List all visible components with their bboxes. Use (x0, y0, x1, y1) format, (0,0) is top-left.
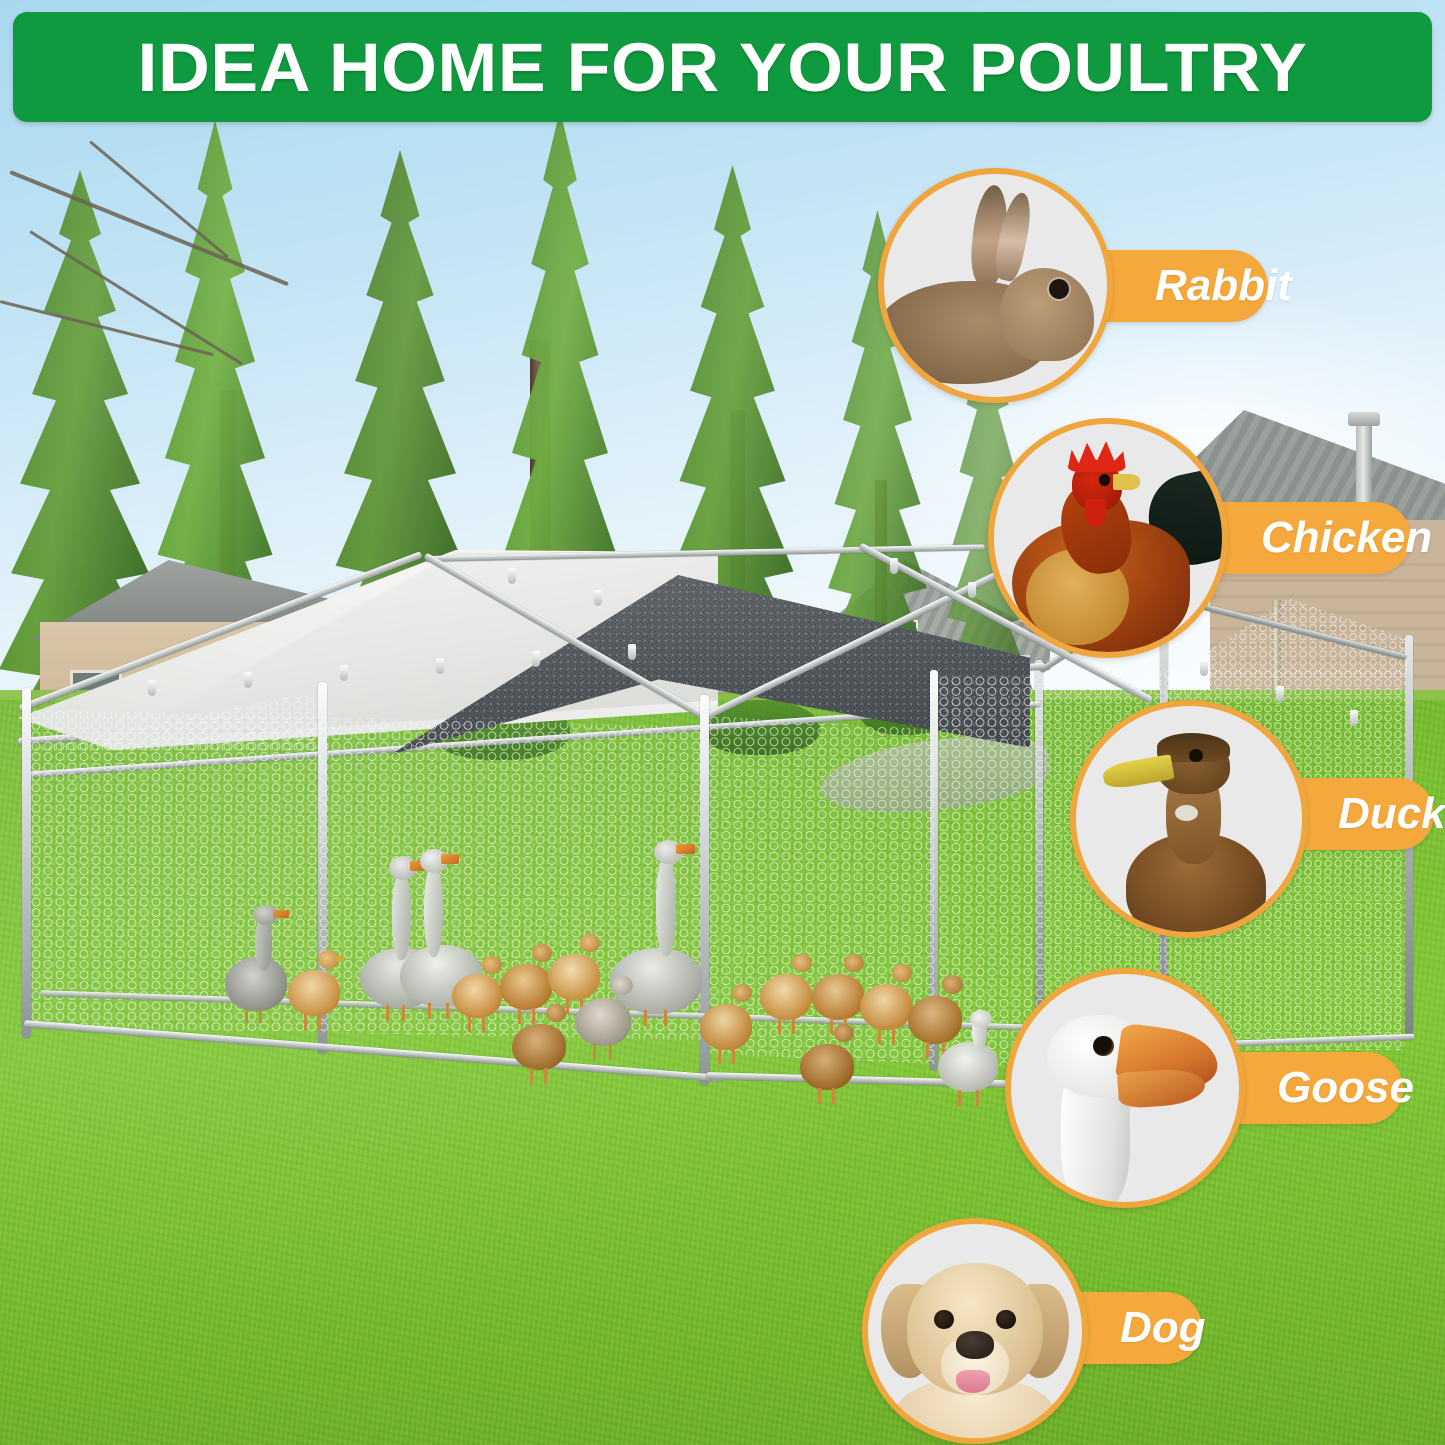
headline-banner: IDEA HOME FOR YOUR POULTRY (13, 12, 1432, 122)
coop-post (22, 688, 31, 1038)
chicken-in-run (512, 1000, 570, 1088)
badge-label: Goose (1277, 1063, 1414, 1113)
roof-tie (890, 558, 898, 574)
roof-tie (244, 672, 252, 688)
duck-illustration (1076, 706, 1302, 932)
goose-in-run (575, 968, 635, 1060)
roof-tie (436, 658, 444, 674)
roof-tie (968, 582, 976, 598)
badge-label: Dog (1120, 1303, 1206, 1353)
poultry-coop-product-image: IDEA HOME FOR YOUR POULTRY Rabbit Chicke… (0, 0, 1445, 1445)
roof-tie (628, 644, 636, 660)
rabbit-photo-icon (878, 168, 1113, 403)
badge-goose[interactable]: Goose (1005, 968, 1405, 1208)
roof-tie (340, 665, 348, 681)
badge-label: Chicken (1261, 513, 1432, 563)
goose-photo-icon (1005, 968, 1245, 1208)
chicken-in-run (288, 940, 344, 1032)
roof-tie (1200, 660, 1208, 676)
roof-tie (508, 568, 516, 584)
rooster-illustration (994, 424, 1222, 652)
goose-in-run (938, 1010, 1002, 1106)
roof-tie (594, 590, 602, 606)
badge-chicken[interactable]: Chicken (988, 418, 1418, 658)
goose-in-run (225, 905, 295, 1020)
badge-label: Duck (1338, 789, 1445, 839)
dog-illustration (868, 1224, 1082, 1438)
rooster-photo-icon (988, 418, 1228, 658)
rabbit-illustration (884, 174, 1107, 397)
roof-tie (532, 651, 540, 667)
roof-tie (148, 680, 156, 696)
badge-dog[interactable]: Dog (862, 1218, 1232, 1445)
badge-duck[interactable]: Duck (1070, 700, 1445, 940)
page-title: IDEA HOME FOR YOUR POULTRY (138, 28, 1308, 107)
chicken-in-run (700, 980, 756, 1066)
chicken-in-run (452, 950, 506, 1034)
badge-rabbit[interactable]: Rabbit (878, 168, 1278, 403)
duck-photo-icon (1070, 700, 1308, 938)
badge-label: Rabbit (1155, 261, 1292, 311)
dog-photo-icon (862, 1218, 1088, 1444)
goose-illustration (1011, 974, 1239, 1202)
chicken-in-run (800, 1020, 858, 1106)
